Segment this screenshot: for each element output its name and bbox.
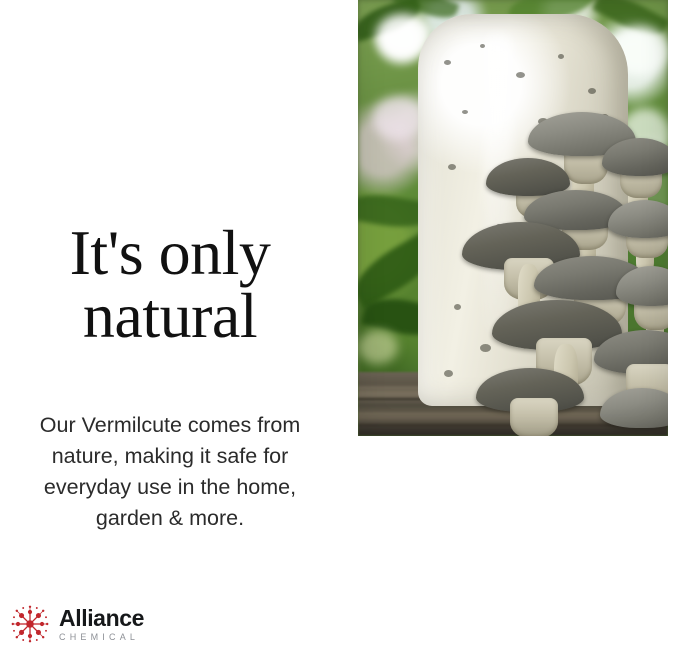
brand-tagline: CHEMICAL (59, 633, 144, 642)
body-text: Our Vermilcute comes from nature, making… (14, 410, 326, 534)
product-photo (358, 0, 668, 436)
advertisement-card: It's onlynatural Our Vermilcute comes fr… (0, 0, 679, 654)
molecule-icon (10, 604, 50, 644)
brand-wordmark: Alliance CHEMICAL (59, 607, 144, 642)
sky-highlight (372, 96, 424, 140)
sky-highlight (358, 330, 398, 364)
page-title: It's onlynatural (0, 222, 340, 347)
headline-line-1: It's only (70, 217, 271, 288)
photo-stage (358, 0, 668, 436)
copy-block: It's onlynatural (0, 222, 340, 347)
brand-name: Alliance (59, 607, 144, 630)
brand-logo: Alliance CHEMICAL (10, 604, 144, 644)
headline-line-2: natural (83, 280, 257, 351)
